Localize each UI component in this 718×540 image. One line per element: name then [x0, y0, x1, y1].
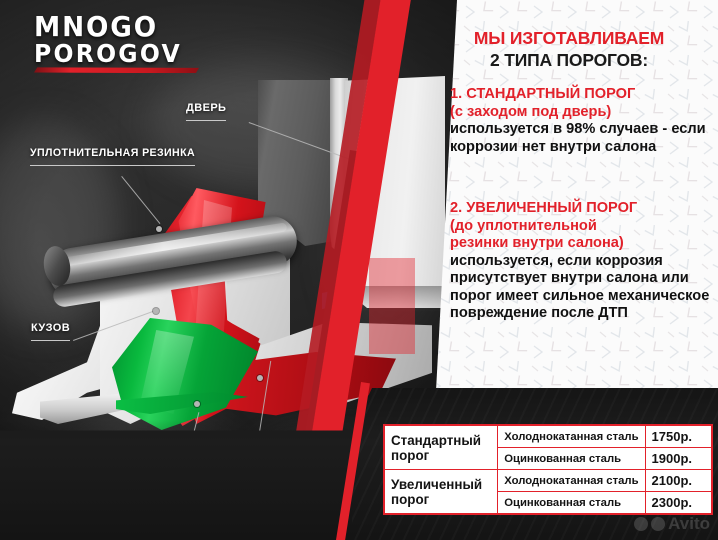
callout-body-label: КУЗОВ: [31, 322, 70, 334]
table-row: Стандартный порог Холоднокатанная сталь …: [384, 425, 712, 448]
leader-dot-seal: [156, 226, 162, 232]
price-value: 2100р.: [645, 470, 712, 492]
callout-seal-rule: [30, 160, 195, 166]
callout-seal-label-1: УПЛОТНИТЕЛЬНАЯ: [30, 147, 139, 159]
info-item-2-subtitle-2: резинки внутри салона): [450, 235, 712, 253]
watermark-text: Avito: [668, 514, 710, 534]
info-item-2: 2. УВЕЛИЧЕННЫЙ ПОРОГ (до уплотнительной …: [450, 200, 712, 323]
avito-watermark: Avito: [634, 514, 710, 534]
price-table: Стандартный порог Холоднокатанная сталь …: [383, 424, 713, 515]
callout-body-rule: [31, 335, 70, 341]
callout-body: КУЗОВ: [31, 322, 70, 341]
callout-door-label: ДВЕРЬ: [186, 102, 226, 114]
info-item-1: 1. СТАНДАРТНЫЙ ПОРОГ (с заходом под двер…: [450, 86, 712, 156]
brand-logo-underline: [34, 67, 199, 73]
diagonal-red-fade-block: [369, 258, 415, 354]
watermark-circle-icon-2: [651, 517, 665, 531]
price-material: Холоднокатанная сталь: [498, 425, 645, 448]
info-item-2-body: используется, если коррозия присутствует…: [450, 253, 709, 322]
headline-black: 2 ТИПА ПОРОГОВ:: [428, 50, 710, 71]
price-value: 1900р.: [645, 448, 712, 470]
price-value: 2300р.: [645, 492, 712, 515]
callout-door-rule: [186, 115, 226, 121]
price-material: Оцинкованная сталь: [498, 492, 645, 515]
poster-canvas: ДВЕРЬ УПЛОТНИТЕЛЬНАЯ РЕЗИНКА КУЗОВ СТАНД…: [0, 0, 718, 540]
price-group-name-1: Стандартный порог: [384, 425, 498, 470]
brand-logo-line-2: POROGOV: [34, 42, 189, 66]
leader-dot-standard: [194, 401, 200, 407]
callout-seal: УПЛОТНИТЕЛЬНАЯ РЕЗИНКА: [30, 147, 195, 166]
table-row: Увеличенный порог Холоднокатанная сталь …: [384, 470, 712, 492]
watermark-circle-icon: [634, 517, 648, 531]
price-material: Холоднокатанная сталь: [498, 470, 645, 492]
info-item-1-subtitle: (с заходом под дверь): [450, 104, 712, 122]
brand-logo: MNOGO POROGOV: [34, 14, 199, 73]
price-value: 1750р.: [645, 425, 712, 448]
brand-logo-line-1: MNOGO: [34, 14, 189, 41]
callout-door: ДВЕРЬ: [186, 102, 226, 121]
info-item-2-subtitle-1: (до уплотнительной: [450, 218, 712, 236]
headline-red: МЫ ИЗГОТАВЛИВАЕМ: [428, 28, 710, 49]
leader-dot-extended: [257, 375, 263, 381]
info-item-2-title: 2. УВЕЛИЧЕННЫЙ ПОРОГ: [450, 200, 712, 218]
info-item-1-title: 1. СТАНДАРТНЫЙ ПОРОГ: [450, 86, 712, 104]
info-item-1-body: используется в 98% случаев - если корроз…: [450, 121, 706, 155]
callout-seal-label-2: РЕЗИНКА: [142, 147, 195, 159]
price-material: Оцинкованная сталь: [498, 448, 645, 470]
price-group-name-2: Увеличенный порог: [384, 470, 498, 515]
leader-dot-body: [153, 308, 159, 314]
